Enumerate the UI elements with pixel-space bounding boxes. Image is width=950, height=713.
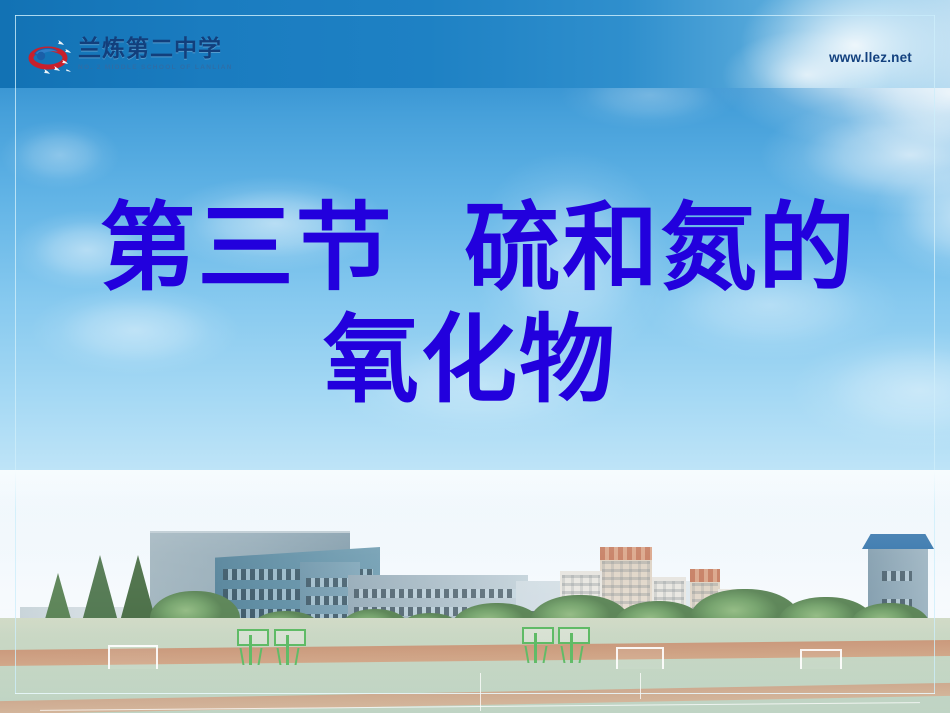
school-swoosh-logo-icon [28,36,72,78]
basketball-hoop [520,627,552,663]
backboard [558,627,590,644]
frame-line-top [15,15,935,16]
soccer-goal [800,649,842,669]
hoop-post [570,633,573,663]
campus-photo [0,470,950,713]
court-line [480,673,481,711]
cloud-shape [0,120,120,190]
website-url[interactable]: www.llez.net [829,50,912,65]
window-row [882,571,912,581]
logo-text-block: 兰炼第二中学 NO. 2 MIDDLE SCHOOL OF LANLIAN [78,36,233,73]
school-name-cn: 兰炼第二中学 [78,36,233,62]
basketball-hoop [556,627,588,663]
hoop-leg [258,648,263,665]
soccer-goal [108,645,158,669]
window-row [354,589,520,598]
blue-roof [862,534,934,549]
hoop-post [286,635,289,665]
school-logo[interactable]: 兰炼第二中学 NO. 2 MIDDLE SCHOOL OF LANLIAN [28,36,233,82]
hoop-leg [240,648,245,665]
school-name-en: NO. 2 MIDDLE SCHOOL OF LANLIAN [78,63,233,73]
hoop-leg [543,646,548,663]
basketball-hoop [235,629,267,665]
soccer-goal [616,647,664,669]
tower-roof [600,547,652,560]
court-line [640,673,641,699]
tower-roof [690,569,720,582]
frame-line-bottom [15,693,935,694]
backboard [274,629,306,646]
hoop-leg [277,648,282,665]
hoop-post [534,633,537,663]
slide-title: 第三节 硫和氮的 氧化物 [0,198,950,412]
backboard [237,629,269,646]
hoop-leg [561,646,566,663]
photo-top-fade [0,470,950,510]
hoop-leg [579,646,584,663]
title-line-2: 氧化物 [0,310,950,412]
window-row [306,578,352,587]
title-line-1: 第三节 硫和氮的 [0,198,950,300]
hoop-leg [525,646,530,663]
hoop-leg [295,648,300,665]
title-slide: 兰炼第二中学 NO. 2 MIDDLE SCHOOL OF LANLIAN ww… [0,0,950,713]
hoop-post [249,635,252,665]
backboard [522,627,554,644]
basketball-hoop [272,629,304,665]
window-row [306,596,352,605]
